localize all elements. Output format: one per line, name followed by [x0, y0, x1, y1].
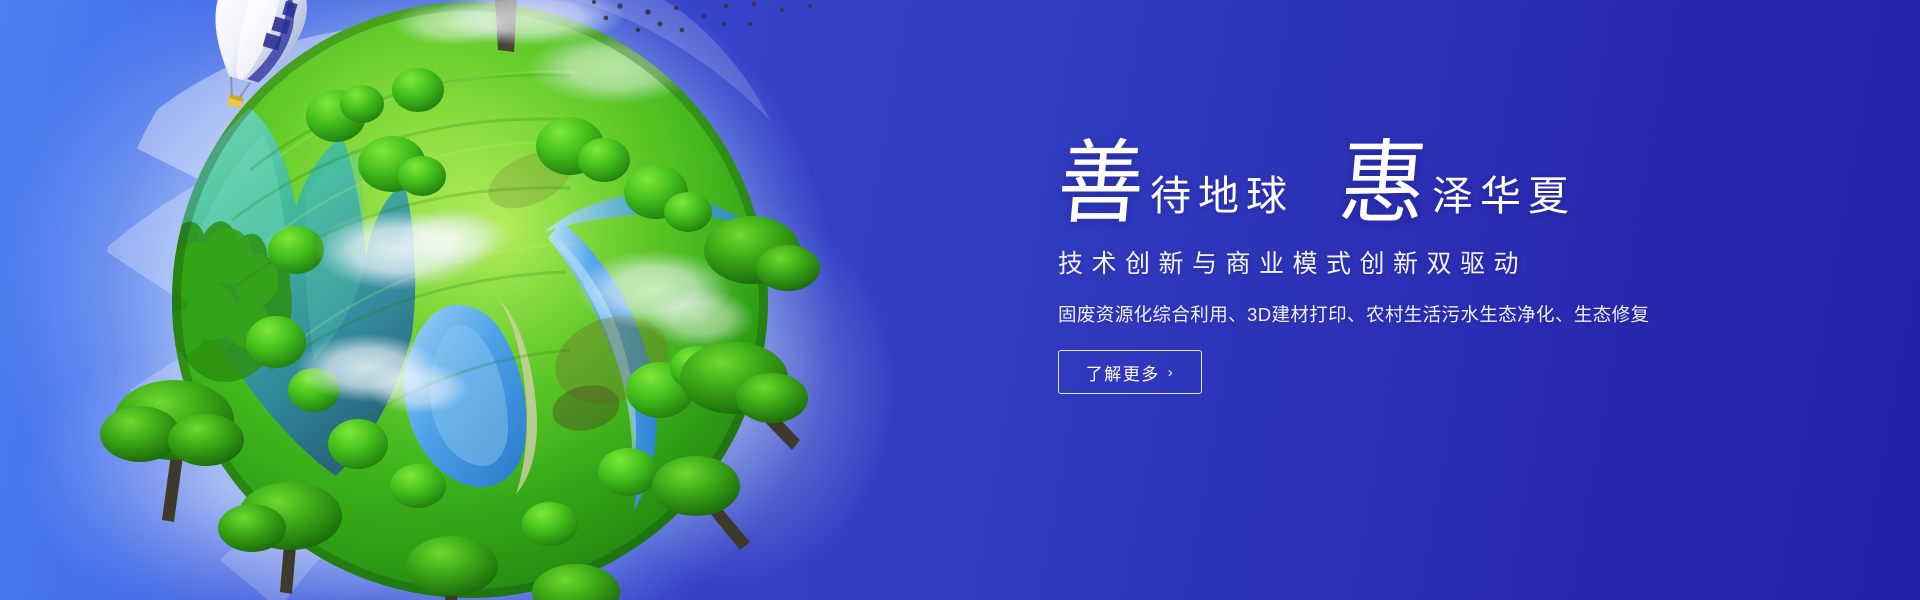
subheadline: 技术创新与商业模式创新双驱动 [1058, 244, 1758, 280]
hero-banner: 善 待地球 惠 泽华夏 技术创新与商业模式创新双驱动 固废资源化综合利用、3D建… [0, 0, 1920, 600]
green-planet-illustration [100, 0, 840, 600]
headline-accent-2: 惠 [1336, 143, 1429, 227]
hero-content: 善 待地球 惠 泽华夏 技术创新与商业模式创新双驱动 固废资源化综合利用、3D建… [1058, 128, 1758, 394]
headline: 善 待地球 惠 泽华夏 [1058, 128, 1758, 224]
headline-accent-1: 善 [1054, 143, 1147, 227]
headline-rest-1: 待地球 [1150, 176, 1294, 224]
headline-rest-2: 泽华夏 [1432, 176, 1576, 224]
learn-more-button[interactable]: 了解更多 › [1058, 350, 1202, 394]
learn-more-label: 了解更多 [1086, 360, 1160, 385]
description: 固废资源化综合利用、3D建材打印、农村生活污水生态净化、生态修复 [1058, 301, 1758, 327]
chevron-right-icon: › [1168, 364, 1175, 381]
